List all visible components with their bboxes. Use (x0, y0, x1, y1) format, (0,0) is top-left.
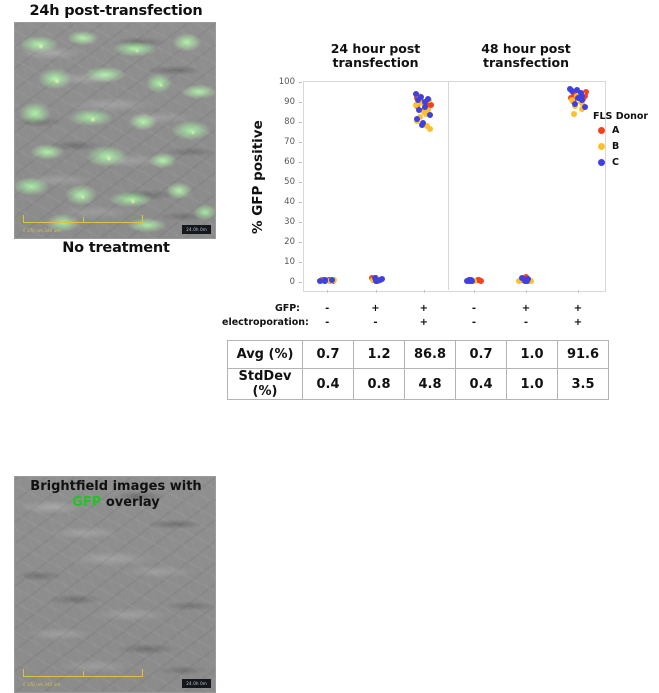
legend-swatch-B (598, 143, 605, 150)
y-tick-label: 50 (269, 178, 295, 186)
condition-sign: + (416, 303, 432, 314)
panel-title-bottom: No treatment (0, 240, 232, 256)
table-cell: 86.8 (405, 341, 456, 369)
condition-sign: - (466, 317, 482, 328)
condition-sign: + (416, 317, 432, 328)
y-tick-mark (299, 202, 302, 203)
scale-bar-icon (23, 215, 143, 223)
y-tick-mark (299, 82, 302, 83)
table-cell: 1.0 (507, 341, 558, 369)
y-axis-label: % GFP positive (250, 120, 266, 234)
x-tick-mark (526, 290, 527, 293)
scatter-chart: 24 hour posttransfection 48 hour posttra… (232, 0, 659, 509)
table-cell: 3.5 (558, 369, 609, 400)
timestamp-badge: 24.0h 0m (182, 679, 211, 688)
caption-line-1: Brightfield images with (30, 479, 201, 494)
facet-title-48h-line-1: 48 hour post (448, 42, 604, 56)
y-tick-mark (299, 222, 302, 223)
x-tick-mark (474, 290, 475, 293)
legend-label-C: C (612, 157, 619, 168)
condition-sign: + (570, 303, 586, 314)
caption-line-2-rest: overlay (101, 495, 159, 510)
table-cell: 0.7 (303, 341, 354, 369)
panel-title-top: 24h post-transfection (0, 3, 232, 19)
y-tick-mark (299, 242, 302, 243)
data-point (372, 275, 378, 281)
x-tick-mark (424, 290, 425, 293)
y-tick-mark (299, 162, 302, 163)
microscopy-column: 24h post-transfection 0 170 um 340 um 24… (0, 0, 232, 509)
y-tick-mark (299, 282, 302, 283)
y-tick-mark (299, 122, 302, 123)
x-tick-mark (578, 290, 579, 293)
table-row-header: StdDev (%) (228, 369, 303, 400)
condition-sign: + (570, 317, 586, 328)
legend-title: FLS Donor (593, 111, 648, 122)
y-tick-mark (299, 262, 302, 263)
table-row: Avg (%)0.71.286.80.71.091.6 (228, 341, 609, 369)
y-tick-label: 40 (269, 198, 295, 206)
data-point (419, 122, 425, 128)
x-tick-mark (376, 290, 377, 293)
legend-swatch-C (598, 159, 605, 166)
y-tick-label: 80 (269, 118, 295, 126)
table-cell: 1.0 (507, 369, 558, 400)
condition-sign: - (319, 317, 335, 328)
table-cell: 4.8 (405, 369, 456, 400)
x-tick-mark (327, 290, 328, 293)
data-point (582, 104, 588, 110)
nuclei-layer (15, 23, 215, 238)
figure-caption: Brightfield images with GFP overlay (0, 479, 232, 511)
plot-area (303, 81, 606, 292)
table-cell: 0.8 (354, 369, 405, 400)
y-tick-label: 70 (269, 138, 295, 146)
data-point (572, 101, 578, 107)
facet-title-24h-line-2: transfection (303, 56, 448, 70)
table-cell: 0.4 (303, 369, 354, 400)
micrograph-gfp-overlay: 0 170 um 340 um 24.0h 0m (14, 22, 216, 239)
table-row-header: Avg (%) (228, 341, 303, 369)
y-tick-label: 0 (269, 278, 295, 286)
scale-bar-label: 0 170 um 340 um (23, 682, 60, 687)
y-tick-mark (299, 142, 302, 143)
condition-row-label: GFP: (222, 303, 300, 314)
legend-swatch-A (598, 127, 605, 134)
table-cell: 1.2 (354, 341, 405, 369)
scale-bar-label: 0 170 um 340 um (23, 228, 60, 233)
y-tick-label: 100 (269, 78, 295, 86)
caption-gfp-word: GFP (72, 495, 101, 510)
y-tick-mark (299, 102, 302, 103)
scale-bar-icon (23, 669, 143, 677)
facet-title-24h: 24 hour posttransfection (303, 42, 448, 70)
y-tick-label: 60 (269, 158, 295, 166)
summary-table: Avg (%)0.71.286.80.71.091.6StdDev (%)0.4… (227, 340, 609, 400)
table-cell: 0.7 (456, 341, 507, 369)
condition-sign: + (368, 303, 384, 314)
data-point (427, 126, 433, 132)
y-tick-label: 20 (269, 238, 295, 246)
condition-sign: - (368, 317, 384, 328)
condition-sign: - (466, 303, 482, 314)
facet-title-48h: 48 hour posttransfection (448, 42, 604, 70)
y-tick-label: 10 (269, 258, 295, 266)
legend-label-A: A (612, 125, 619, 136)
y-tick-label: 90 (269, 98, 295, 106)
facet-title-48h-line-2: transfection (448, 56, 604, 70)
timestamp-badge: 24.0h 0m (182, 225, 211, 234)
condition-sign: - (518, 317, 534, 328)
condition-sign: - (319, 303, 335, 314)
facet-divider (448, 81, 449, 290)
facet-title-24h-line-1: 24 hour post (303, 42, 448, 56)
y-tick-mark (299, 182, 302, 183)
table-cell: 0.4 (456, 369, 507, 400)
table-cell: 91.6 (558, 341, 609, 369)
table-row: StdDev (%)0.40.84.80.41.03.5 (228, 369, 609, 400)
condition-row-label: electroporation: (222, 317, 300, 328)
y-tick-label: 30 (269, 218, 295, 226)
data-point (414, 116, 420, 122)
condition-sign: + (518, 303, 534, 314)
legend-label-B: B (612, 141, 619, 152)
